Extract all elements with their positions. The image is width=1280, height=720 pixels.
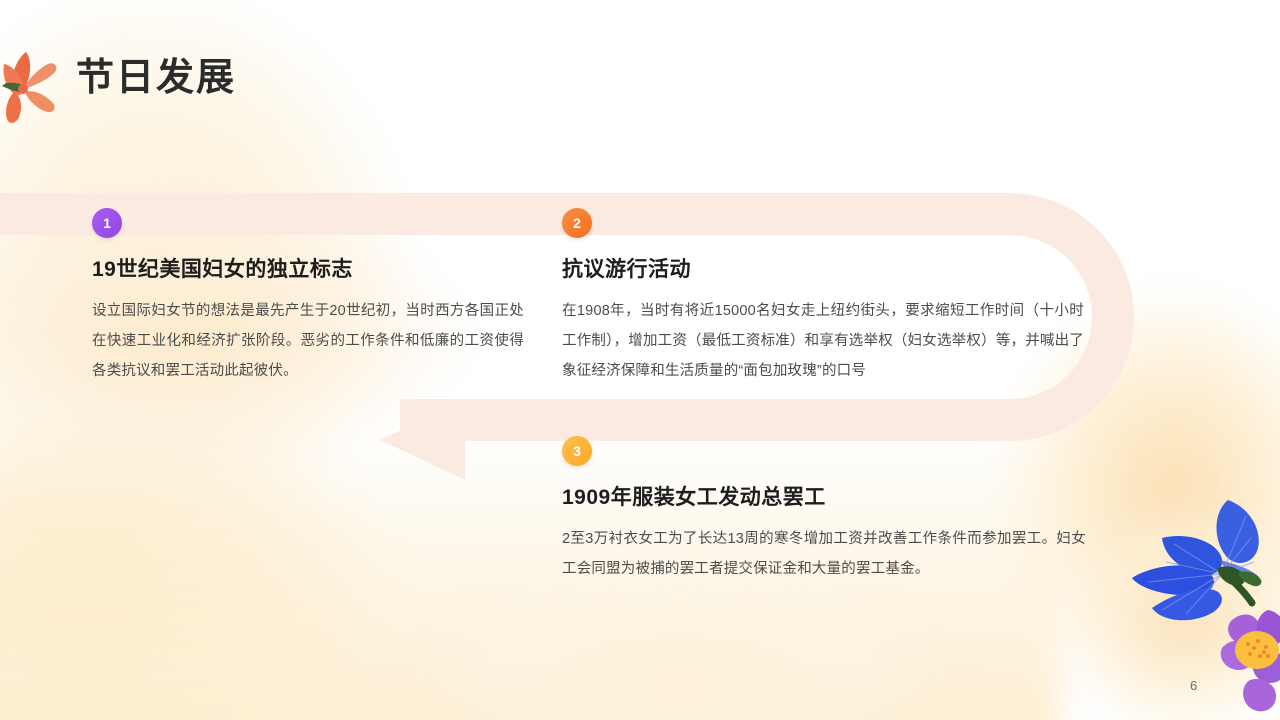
- blue-petals-icon: [1132, 500, 1259, 620]
- step-badge-3: 3: [562, 436, 592, 466]
- block-title-1: 19世纪美国妇女的独立标志: [92, 256, 532, 283]
- block-body-1: 设立国际妇女节的想法是最先产生于20世纪初，当时西方各国正处在快速工业化和经济扩…: [92, 297, 524, 386]
- slide-canvas: 节日发展 1 19世纪美国妇女的独立标志 设立国际妇女节的想法是最先产生于20世…: [0, 0, 1280, 720]
- step-badge-2: 2: [562, 208, 592, 238]
- block-body-2: 在1908年，当时有将近15000名妇女走上纽约街头，要求缩短工作时间（十小时工…: [562, 297, 1084, 386]
- step-badge-1: 1: [92, 208, 122, 238]
- content-block-2: 2 抗议游行活动 在1908年，当时有将近15000名妇女走上纽约街头，要求缩短…: [562, 208, 1090, 386]
- page-number: 6: [1190, 678, 1197, 693]
- orange-flower-icon: [2, 42, 74, 126]
- block-title-2: 抗议游行活动: [562, 256, 1090, 283]
- content-block-1: 1 19世纪美国妇女的独立标志 设立国际妇女节的想法是最先产生于20世纪初，当时…: [92, 208, 532, 386]
- slide-header: 节日发展: [0, 0, 1280, 160]
- block-title-3: 1909年服装女工发动总罢工: [562, 484, 1090, 511]
- green-stem-icon: [1218, 566, 1261, 603]
- purple-flower-icon: [1221, 610, 1280, 711]
- content-block-3: 3 1909年服装女工发动总罢工 2至3万衬衣女工为了长达13周的寒冬增加工资并…: [562, 436, 1090, 585]
- block-body-3: 2至3万衬衣女工为了长达13周的寒冬增加工资并改善工作条件而参加罢工。妇女工会同…: [562, 525, 1086, 584]
- page-title: 节日发展: [76, 56, 236, 102]
